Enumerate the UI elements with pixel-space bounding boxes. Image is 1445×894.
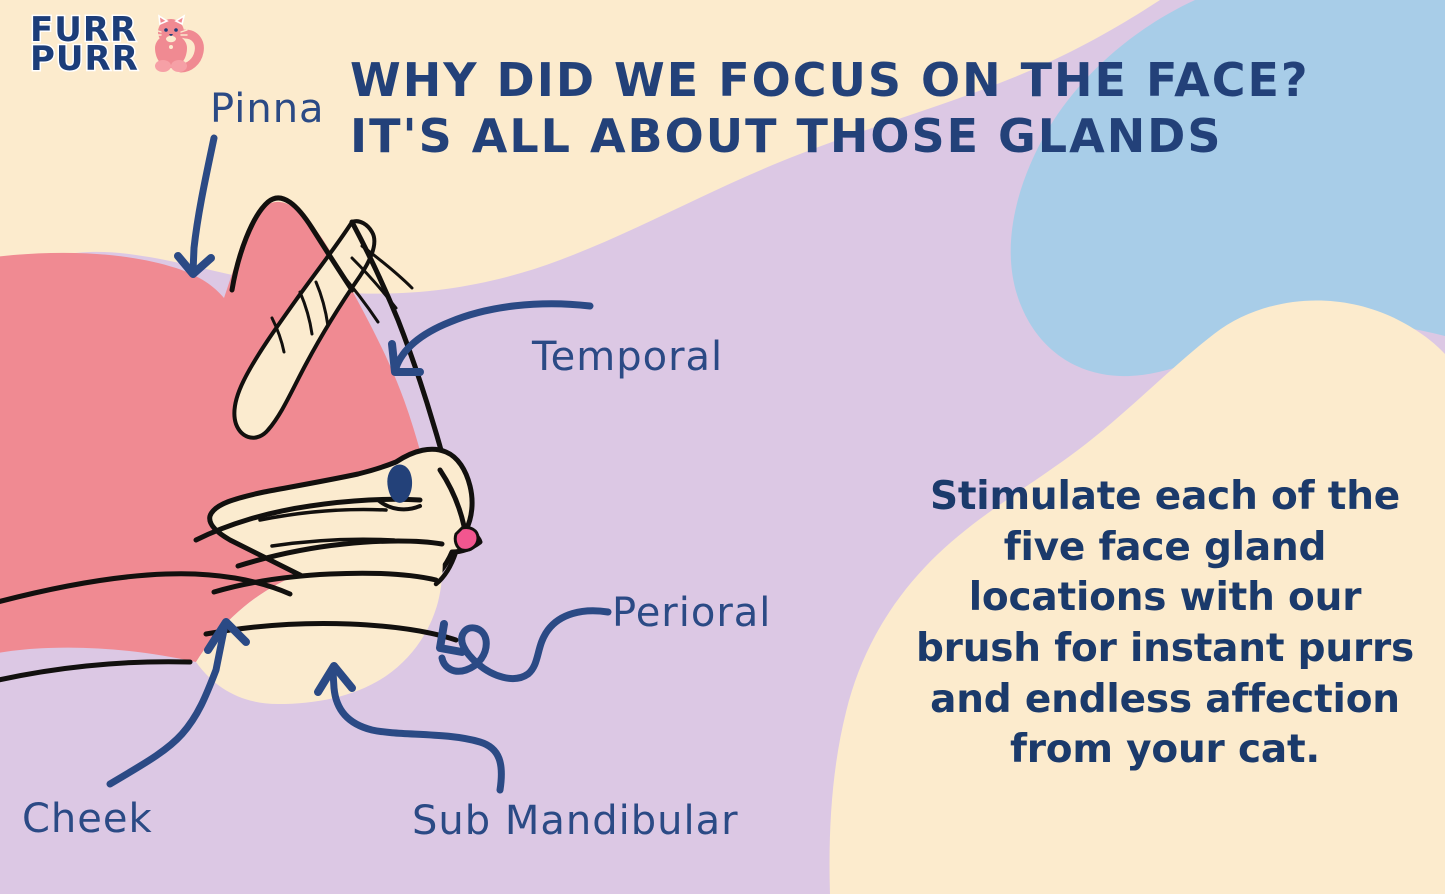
body-copy-line-5: and endless affection (930, 677, 1400, 722)
body-copy-line-1: Stimulate each of the (930, 474, 1400, 519)
gland-label-pinna: Pinna (210, 86, 325, 132)
brand-logo-wordmark: FURR PURR (30, 16, 139, 74)
page-title: WHY DID WE FOCUS ON THE FACE? IT'S ALL A… (350, 52, 1220, 164)
body-copy: Stimulate each of the five face gland lo… (895, 472, 1435, 776)
body-copy-line-3: locations with our (969, 575, 1362, 620)
gland-label-temporal: Temporal (532, 334, 723, 380)
pointer-perioral (440, 611, 608, 679)
gland-label-cheek: Cheek (22, 796, 153, 842)
headline-line-1: WHY DID WE FOCUS ON THE FACE? (350, 52, 1220, 108)
body-copy-line-2: five face gland (1004, 525, 1327, 570)
gland-label-sub-mandibular: Sub Mandibular (412, 798, 739, 844)
cat-mascot-icon (133, 14, 205, 78)
pointer-pinna (178, 138, 214, 274)
cat-nose (455, 527, 478, 550)
body-copy-line-6: from your cat. (1010, 727, 1320, 772)
brand-logo-line2: PURR (30, 45, 139, 74)
brand-logo[interactable]: FURR PURR (30, 12, 205, 78)
infographic-canvas: FURR PURR (0, 0, 1445, 894)
pointer-sub-mandibular (318, 666, 501, 790)
body-copy-line-4: brush for instant purrs (916, 626, 1414, 671)
gland-label-perioral: Perioral (612, 590, 771, 636)
headline-line-2: IT'S ALL ABOUT THOSE GLANDS (350, 108, 1220, 164)
